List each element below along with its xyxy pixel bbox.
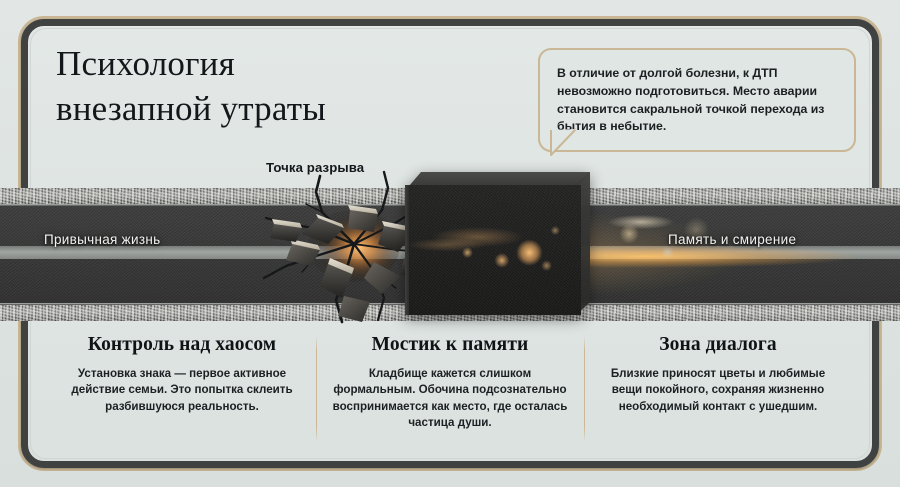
monument-front-face — [409, 185, 581, 315]
insight-body-2: Кладбище кажется слишком формальным. Обо… — [330, 366, 570, 432]
page-title: Психология внезапной утраты — [56, 42, 496, 132]
title-line-2: внезапной утраты — [56, 87, 496, 132]
insight-column-memory: Мостик к памяти Кладбище кажется слишком… — [316, 334, 584, 450]
granite-monument-block — [405, 172, 590, 315]
insight-heading-3: Зона диалога — [598, 334, 838, 356]
monument-top-face — [405, 172, 590, 186]
rupture-point-label: Точка разрыва — [266, 160, 364, 175]
insight-column-dialogue: Зона диалога Близкие приносят цветы и лю… — [584, 334, 852, 450]
infographic-canvas: Психология внезапной утраты В отличие от… — [0, 0, 900, 487]
insight-body-3: Близкие приносят цветы и любимые вещи по… — [598, 366, 838, 415]
insight-column-control: Контроль над хаосом Установка знака — пе… — [48, 334, 316, 450]
insight-heading-2: Мостик к памяти — [330, 334, 570, 356]
road-label-right: Память и смирение — [668, 232, 796, 247]
insight-columns: Контроль над хаосом Установка знака — пе… — [48, 334, 852, 450]
callout-bubble-tail-icon — [548, 128, 578, 164]
insight-heading-1: Контроль над хаосом — [62, 334, 302, 356]
callout-bubble-text: В отличие от долгой болезни, к ДТП невоз… — [557, 65, 837, 136]
road-label-left: Привычная жизнь — [44, 232, 160, 247]
callout-bubble: В отличие от долгой болезни, к ДТП невоз… — [538, 48, 856, 152]
insight-body-1: Установка знака — первое активное действ… — [62, 366, 302, 415]
title-line-1: Психология — [56, 44, 235, 83]
